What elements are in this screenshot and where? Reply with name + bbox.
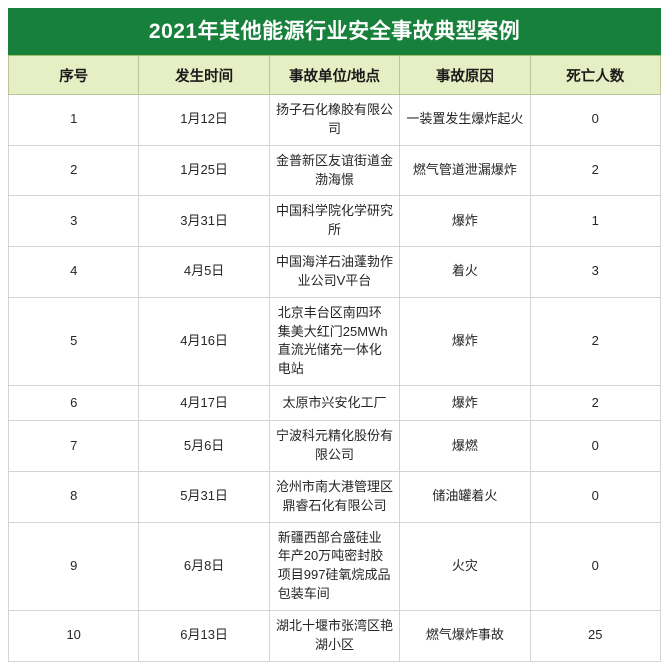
cell-date: 5月31日 [139, 471, 269, 522]
cell-date: 6月8日 [139, 522, 269, 610]
cell-cause: 一装置发生爆炸起火 [400, 95, 530, 146]
table-row: 96月8日新疆西部合盛硅业年产20万吨密封胶项目997硅氧烷成品包装车间火灾0 [9, 522, 661, 610]
cell-unit: 金普新区友谊街道金渤海憬 [269, 145, 399, 196]
cell-date: 6月13日 [139, 610, 269, 661]
cell-cause: 爆炸 [400, 196, 530, 247]
cell-date: 4月5日 [139, 247, 269, 298]
table-row: 21月25日金普新区友谊街道金渤海憬燃气管道泄漏爆炸2 [9, 145, 661, 196]
cell-deaths: 0 [530, 471, 660, 522]
table-row: 54月16日北京丰台区南四环集美大红门25MWh直流光储充一体化电站爆炸2 [9, 297, 661, 385]
cell-unit: 新疆西部合盛硅业年产20万吨密封胶项目997硅氧烷成品包装车间 [269, 522, 399, 610]
cell-index: 1 [9, 95, 139, 146]
cell-deaths: 0 [530, 522, 660, 610]
table-row: 11月12日扬子石化橡胶有限公司一装置发生爆炸起火0 [9, 95, 661, 146]
cell-cause: 火灾 [400, 522, 530, 610]
cell-deaths: 3 [530, 247, 660, 298]
column-header-unit: 事故单位/地点 [269, 56, 399, 95]
cell-date: 4月16日 [139, 297, 269, 385]
cell-cause: 储油罐着火 [400, 471, 530, 522]
cell-cause: 爆炸 [400, 386, 530, 421]
cell-unit: 太原市兴安化工厂 [269, 386, 399, 421]
table-row: 44月5日中国海洋石油蓬勃作业公司V平台着火3 [9, 247, 661, 298]
cell-deaths: 2 [530, 386, 660, 421]
cell-deaths: 25 [530, 610, 660, 661]
cell-unit: 沧州市南大港管理区鼎睿石化有限公司 [269, 471, 399, 522]
cell-unit: 宁波科元精化股份有限公司 [269, 421, 399, 472]
column-header-deaths: 死亡人数 [530, 56, 660, 95]
cell-date: 1月12日 [139, 95, 269, 146]
column-header-cause: 事故原因 [400, 56, 530, 95]
cell-index: 5 [9, 297, 139, 385]
cell-deaths: 0 [530, 95, 660, 146]
table-row: 64月17日太原市兴安化工厂爆炸2 [9, 386, 661, 421]
cell-deaths: 2 [530, 145, 660, 196]
cell-deaths: 1 [530, 196, 660, 247]
table-body: 11月12日扬子石化橡胶有限公司一装置发生爆炸起火021月25日金普新区友谊街道… [9, 95, 661, 662]
cell-index: 2 [9, 145, 139, 196]
cell-cause: 着火 [400, 247, 530, 298]
cell-date: 4月17日 [139, 386, 269, 421]
cell-index: 3 [9, 196, 139, 247]
table-row: 85月31日沧州市南大港管理区鼎睿石化有限公司储油罐着火0 [9, 471, 661, 522]
cell-index: 8 [9, 471, 139, 522]
cell-cause: 爆燃 [400, 421, 530, 472]
cell-unit: 北京丰台区南四环集美大红门25MWh直流光储充一体化电站 [269, 297, 399, 385]
table-row: 33月31日中国科学院化学研究所爆炸1 [9, 196, 661, 247]
cell-date: 1月25日 [139, 145, 269, 196]
cell-index: 7 [9, 421, 139, 472]
table-title-row: 2021年其他能源行业安全事故典型案例 [9, 9, 661, 56]
cell-unit: 中国科学院化学研究所 [269, 196, 399, 247]
table-header-row: 序号 发生时间 事故单位/地点 事故原因 死亡人数 [9, 56, 661, 95]
cell-date: 5月6日 [139, 421, 269, 472]
cell-index: 6 [9, 386, 139, 421]
cell-index: 9 [9, 522, 139, 610]
cell-deaths: 2 [530, 297, 660, 385]
table-title: 2021年其他能源行业安全事故典型案例 [9, 9, 661, 56]
column-header-date: 发生时间 [139, 56, 269, 95]
table-row: 106月13日湖北十堰市张湾区艳湖小区燃气爆炸事故25 [9, 610, 661, 661]
cell-unit: 湖北十堰市张湾区艳湖小区 [269, 610, 399, 661]
table-row: 75月6日宁波科元精化股份有限公司爆燃0 [9, 421, 661, 472]
cell-cause: 燃气管道泄漏爆炸 [400, 145, 530, 196]
cell-date: 3月31日 [139, 196, 269, 247]
cell-cause: 燃气爆炸事故 [400, 610, 530, 661]
cell-deaths: 0 [530, 421, 660, 472]
cell-unit: 扬子石化橡胶有限公司 [269, 95, 399, 146]
cell-index: 4 [9, 247, 139, 298]
cell-index: 10 [9, 610, 139, 661]
accident-case-table: 2021年其他能源行业安全事故典型案例 序号 发生时间 事故单位/地点 事故原因… [8, 8, 661, 662]
column-header-index: 序号 [9, 56, 139, 95]
cell-cause: 爆炸 [400, 297, 530, 385]
table-head: 2021年其他能源行业安全事故典型案例 序号 发生时间 事故单位/地点 事故原因… [9, 9, 661, 95]
cell-unit: 中国海洋石油蓬勃作业公司V平台 [269, 247, 399, 298]
page-container: 2021年其他能源行业安全事故典型案例 序号 发生时间 事故单位/地点 事故原因… [0, 0, 668, 475]
